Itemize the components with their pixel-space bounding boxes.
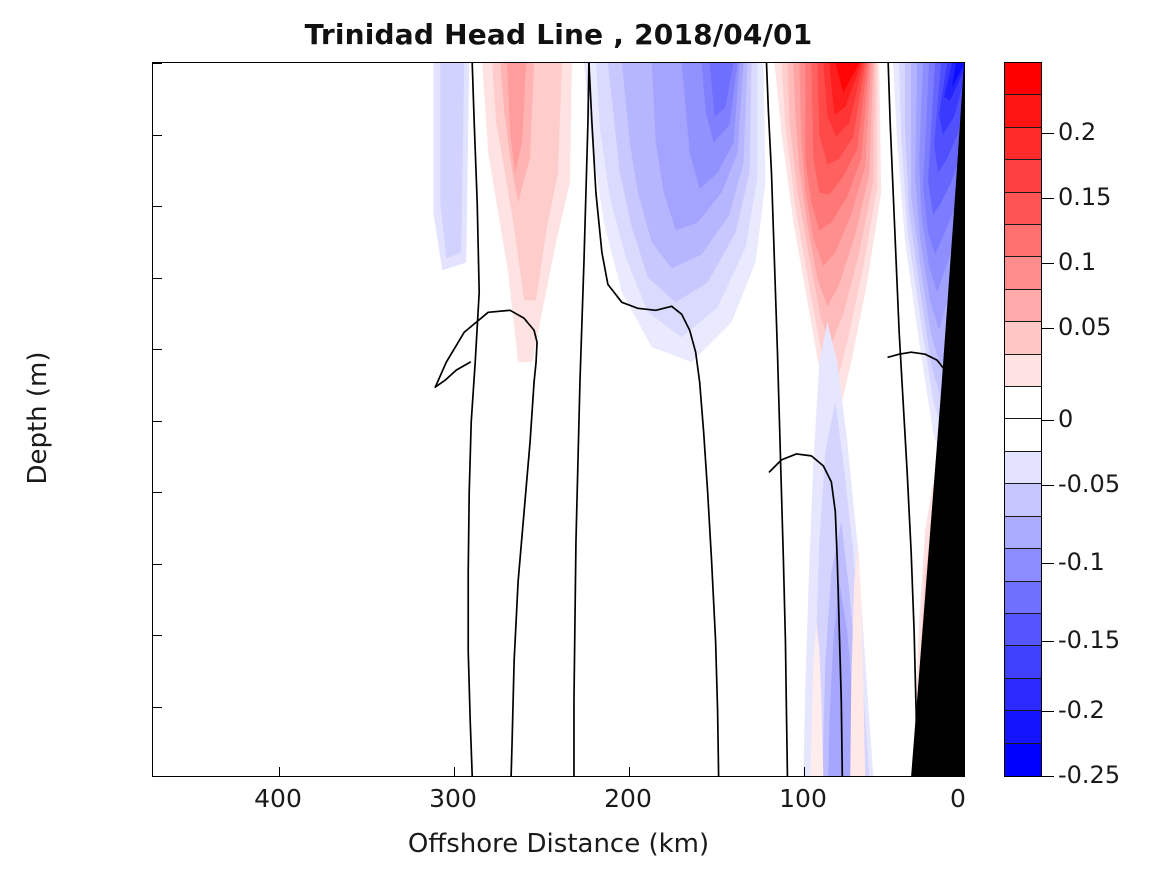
- colorbar-band-19: [1005, 679, 1041, 711]
- colorbar-label-0: 0: [1058, 407, 1073, 431]
- y-tick-400: [153, 635, 162, 636]
- colorbar-label--0.1: -0.1: [1058, 550, 1105, 574]
- colorbar-band-20: [1005, 711, 1041, 743]
- colorbar-tick-0: [1042, 420, 1054, 421]
- y-tick-100: [153, 206, 162, 207]
- colorbar-band-18: [1005, 646, 1041, 678]
- colorbar-band-13: [1005, 484, 1041, 516]
- x-tick-200: [629, 767, 630, 776]
- y-tick-0: [153, 63, 162, 64]
- x-tick-label-300: 300: [383, 786, 523, 811]
- x-tick-label-100: 100: [733, 786, 873, 811]
- colorbar-band-3: [1005, 160, 1041, 192]
- y-tick-50: [153, 135, 162, 136]
- colorbar-band-7: [1005, 290, 1041, 322]
- colorbar-tick-0.05: [1042, 328, 1054, 329]
- y-tick-200: [153, 349, 162, 350]
- x-tick-label-200: 200: [558, 786, 698, 811]
- colorbar-band-6: [1005, 257, 1041, 289]
- colorbar-label-0.05: 0.05: [1058, 315, 1111, 339]
- x-tick-0: [959, 767, 960, 776]
- colorbar-band-11: [1005, 419, 1041, 451]
- x-axis-title: Offshore Distance (km): [152, 829, 965, 859]
- x-tick-label-0: 0: [888, 786, 1028, 811]
- contour-field: [153, 63, 964, 776]
- y-tick-250: [153, 421, 162, 422]
- x-tick-100: [804, 767, 805, 776]
- colorbar-tick-0.15: [1042, 198, 1054, 199]
- colorbar-band-17: [1005, 614, 1041, 646]
- colorbar: [1004, 62, 1042, 777]
- colorbar-label--0.15: -0.15: [1058, 628, 1120, 652]
- x-tick-label-400: 400: [208, 786, 348, 811]
- colorbar-band-9: [1005, 355, 1041, 387]
- y-tick-350: [153, 564, 162, 565]
- colorbar-band-14: [1005, 517, 1041, 549]
- colorbar-band-2: [1005, 128, 1041, 160]
- feature-offshore-negative-band: [433, 63, 469, 270]
- colorbar-band-5: [1005, 225, 1041, 257]
- colorbar-band-1: [1005, 95, 1041, 127]
- x-tick-300: [454, 767, 455, 776]
- colorbar-band-4: [1005, 193, 1041, 225]
- colorbar-band-15: [1005, 549, 1041, 581]
- colorbar-tick--0.2: [1042, 711, 1054, 712]
- x-tick-400: [279, 767, 280, 776]
- colorbar-tick-0.1: [1042, 263, 1054, 264]
- y-tick-150: [153, 278, 162, 279]
- colorbar-tick--0.25: [1042, 776, 1054, 777]
- y-tick-300: [153, 492, 162, 493]
- colorbar-tick--0.05: [1042, 485, 1054, 486]
- colorbar-label-0.2: 0.2: [1058, 120, 1096, 144]
- plot-area: [153, 63, 964, 776]
- y-tick-450: [153, 707, 162, 708]
- colorbar-tick--0.1: [1042, 563, 1054, 564]
- colorbar-label--0.2: -0.2: [1058, 698, 1105, 722]
- colorbar-band-10: [1005, 387, 1041, 419]
- colorbar-band-16: [1005, 582, 1041, 614]
- colorbar-band-12: [1005, 452, 1041, 484]
- colorbar-band-8: [1005, 322, 1041, 354]
- colorbar-label--0.05: -0.05: [1058, 472, 1120, 496]
- y-axis-title: Depth (m): [23, 288, 53, 548]
- figure-title: Trinidad Head Line , 2018/04/01: [152, 18, 965, 51]
- colorbar-label-0.15: 0.15: [1058, 185, 1111, 209]
- colorbar-label-0.1: 0.1: [1058, 250, 1096, 274]
- colorbar-band-21: [1005, 744, 1041, 776]
- colorbar-tick--0.15: [1042, 641, 1054, 642]
- plot-axes: [152, 62, 965, 777]
- colorbar-label--0.25: -0.25: [1058, 763, 1120, 787]
- figure-canvas: Trinidad Head Line , 2018/04/01: [0, 0, 1167, 875]
- colorbar-band-0: [1005, 63, 1041, 95]
- colorbar-tick-0.2: [1042, 133, 1054, 134]
